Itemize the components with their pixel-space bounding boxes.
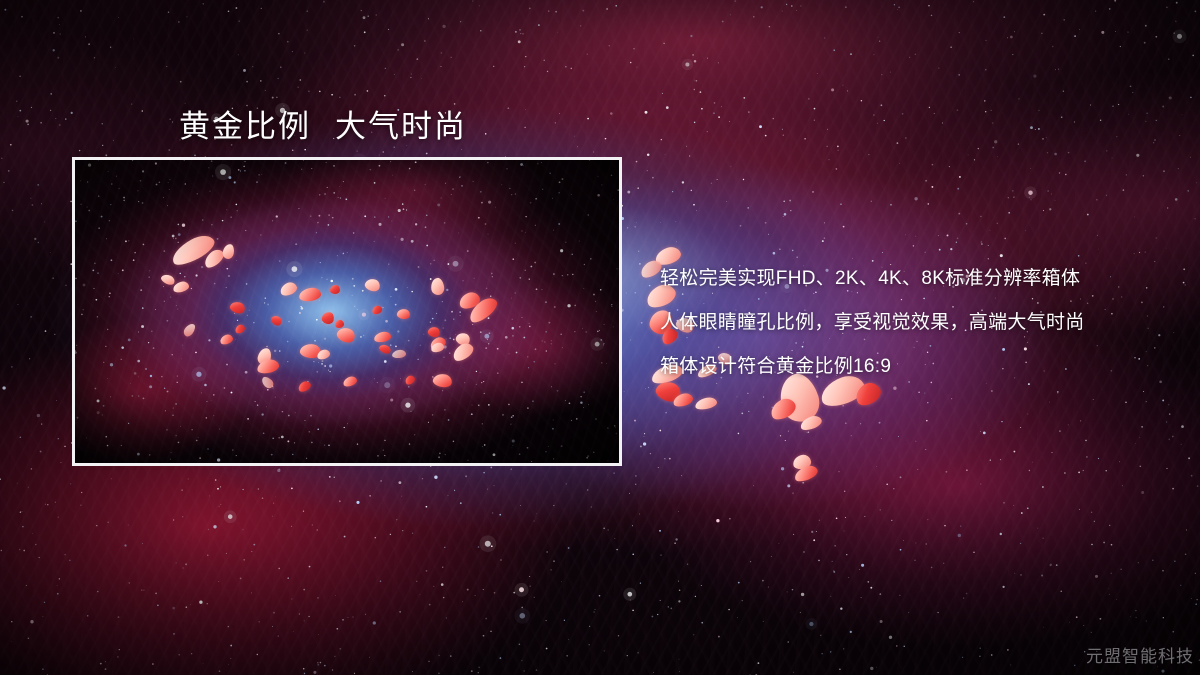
title-segment-golden-ratio: 黄金比例 bbox=[179, 109, 311, 144]
title-segment-stylish: 大气时尚 bbox=[335, 109, 467, 144]
body-copy-block: 轻松完美实现FHD、2K、4K、8K标准分辨率箱体 人体眼睛瞳孔比例，享受视觉效… bbox=[660, 257, 1160, 389]
panel-image bbox=[75, 160, 619, 463]
petal bbox=[694, 396, 718, 411]
petal bbox=[767, 395, 798, 423]
framed-image-panel[interactable] bbox=[72, 157, 622, 466]
body-copy-line-3: 箱体设计符合黄金比例16:9 bbox=[660, 345, 1160, 389]
petal bbox=[672, 391, 695, 408]
petal bbox=[792, 463, 819, 484]
presentation-slide: 黄金比例大气时尚 轻松完美实现FHD、2K、4K、8K标准分辨率箱体 人体眼睛瞳… bbox=[0, 0, 1200, 675]
body-copy-line-1: 轻松完美实现FHD、2K、4K、8K标准分辨率箱体 bbox=[660, 257, 1160, 301]
body-copy-line-2: 人体眼睛瞳孔比例，享受视觉效果，高端大气时尚 bbox=[660, 301, 1160, 345]
petal bbox=[792, 454, 812, 471]
petal bbox=[799, 414, 824, 433]
panel-vignette bbox=[75, 160, 619, 463]
page-title: 黄金比例大气时尚 bbox=[179, 101, 467, 146]
watermark-label: 元盟智能科技 bbox=[1086, 642, 1194, 667]
